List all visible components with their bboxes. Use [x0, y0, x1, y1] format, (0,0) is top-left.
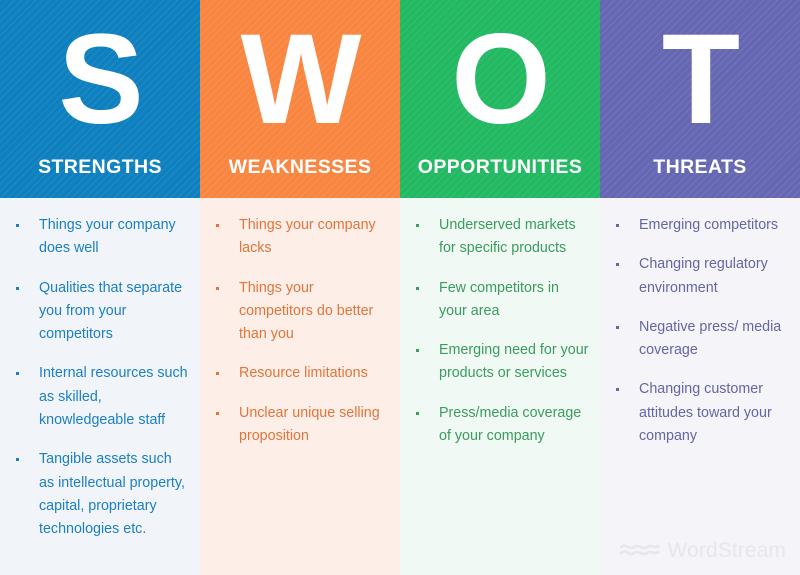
big-letter-t: T [662, 16, 738, 144]
bullet-list-opportunities: Underserved markets for specific product… [414, 214, 590, 448]
list-item-label: Press/media coverage of your company [439, 402, 590, 449]
big-letter-o: O [451, 16, 549, 144]
list-item-label: Internal resources such as skilled, know… [39, 362, 190, 432]
bullet-dot-icon [416, 412, 419, 415]
bullet-dot-icon [616, 388, 619, 391]
bullet-dot-icon [616, 224, 619, 227]
list-item: Negative press/ media coverage [614, 316, 790, 363]
list-item-label: Underserved markets for specific product… [439, 214, 590, 261]
swot-column-threats: T THREATS Emerging competitors Changing … [600, 0, 800, 575]
list-item-label: Qualities that separate you from your co… [39, 277, 190, 347]
column-title-threats: THREATS [653, 156, 746, 179]
list-item-label: Few competitors in your area [439, 277, 590, 324]
list-item: Changing customer attitudes toward your … [614, 378, 790, 448]
list-item: Few competitors in your area [414, 277, 590, 324]
bullet-dot-icon [416, 287, 419, 290]
list-item: Things your company lacks [214, 214, 390, 261]
list-item: Press/media coverage of your company [414, 402, 590, 449]
list-item: Qualities that separate you from your co… [14, 277, 190, 347]
list-item-label: Things your company lacks [239, 214, 390, 261]
bullet-dot-icon [16, 372, 19, 375]
bullet-dot-icon [616, 263, 619, 266]
list-item: Underserved markets for specific product… [414, 214, 590, 261]
wordstream-brand-label: WordStream [668, 539, 786, 563]
swot-column-strengths: S STRENGTHS Things your company does wel… [0, 0, 200, 575]
column-body-weaknesses: Things your company lacks Things your co… [200, 198, 400, 575]
bullet-dot-icon [216, 372, 219, 375]
column-header-threats: T THREATS [600, 0, 800, 198]
swot-column-opportunities: O OPPORTUNITIES Underserved markets for … [400, 0, 600, 575]
list-item: Internal resources such as skilled, know… [14, 362, 190, 432]
list-item-label: Things your company does well [39, 214, 190, 261]
bullet-list-strengths: Things your company does well Qualities … [14, 214, 190, 542]
list-item-label: Emerging competitors [639, 214, 790, 237]
list-item: Unclear unique selling proposition [214, 402, 390, 449]
bullet-list-weaknesses: Things your company lacks Things your co… [214, 214, 390, 448]
list-item-label: Changing customer attitudes toward your … [639, 378, 790, 448]
column-header-opportunities: O OPPORTUNITIES [400, 0, 600, 198]
swot-column-weaknesses: W WEAKNESSES Things your company lacks T… [200, 0, 400, 575]
column-title-opportunities: OPPORTUNITIES [418, 156, 582, 179]
bullet-dot-icon [216, 287, 219, 290]
column-title-strengths: STRENGTHS [38, 156, 162, 179]
bullet-list-threats: Emerging competitors Changing regulatory… [614, 214, 790, 448]
big-letter-s: S [58, 16, 141, 144]
column-header-strengths: S STRENGTHS [0, 0, 200, 198]
bullet-dot-icon [16, 287, 19, 290]
list-item-label: Negative press/ media coverage [639, 316, 790, 363]
big-letter-w: W [241, 16, 360, 144]
list-item: Resource limitations [214, 362, 390, 385]
column-header-weaknesses: W WEAKNESSES [200, 0, 400, 198]
bullet-dot-icon [616, 326, 619, 329]
bullet-dot-icon [216, 224, 219, 227]
list-item-label: Tangible assets such as intellectual pro… [39, 448, 190, 541]
bullet-dot-icon [16, 458, 19, 461]
list-item-label: Resource limitations [239, 362, 390, 385]
column-body-strengths: Things your company does well Qualities … [0, 198, 200, 575]
bullet-dot-icon [216, 412, 219, 415]
swot-matrix: S STRENGTHS Things your company does wel… [0, 0, 800, 575]
list-item-label: Emerging need for your products or servi… [439, 339, 590, 386]
list-item: Things your company does well [14, 214, 190, 261]
bullet-dot-icon [416, 349, 419, 352]
wave-lines-icon [620, 541, 660, 561]
column-body-threats: Emerging competitors Changing regulatory… [600, 198, 800, 575]
column-title-weaknesses: WEAKNESSES [229, 156, 372, 179]
list-item: Emerging competitors [614, 214, 790, 237]
list-item: Tangible assets such as intellectual pro… [14, 448, 190, 541]
list-item: Things your competitors do better than y… [214, 277, 390, 347]
list-item-label: Changing regulatory environment [639, 253, 790, 300]
list-item-label: Things your competitors do better than y… [239, 277, 390, 347]
list-item-label: Unclear unique selling proposition [239, 402, 390, 449]
column-body-opportunities: Underserved markets for specific product… [400, 198, 600, 575]
bullet-dot-icon [416, 224, 419, 227]
list-item: Changing regulatory environment [614, 253, 790, 300]
wordstream-watermark: WordStream [620, 539, 786, 563]
list-item: Emerging need for your products or servi… [414, 339, 590, 386]
bullet-dot-icon [16, 224, 19, 227]
